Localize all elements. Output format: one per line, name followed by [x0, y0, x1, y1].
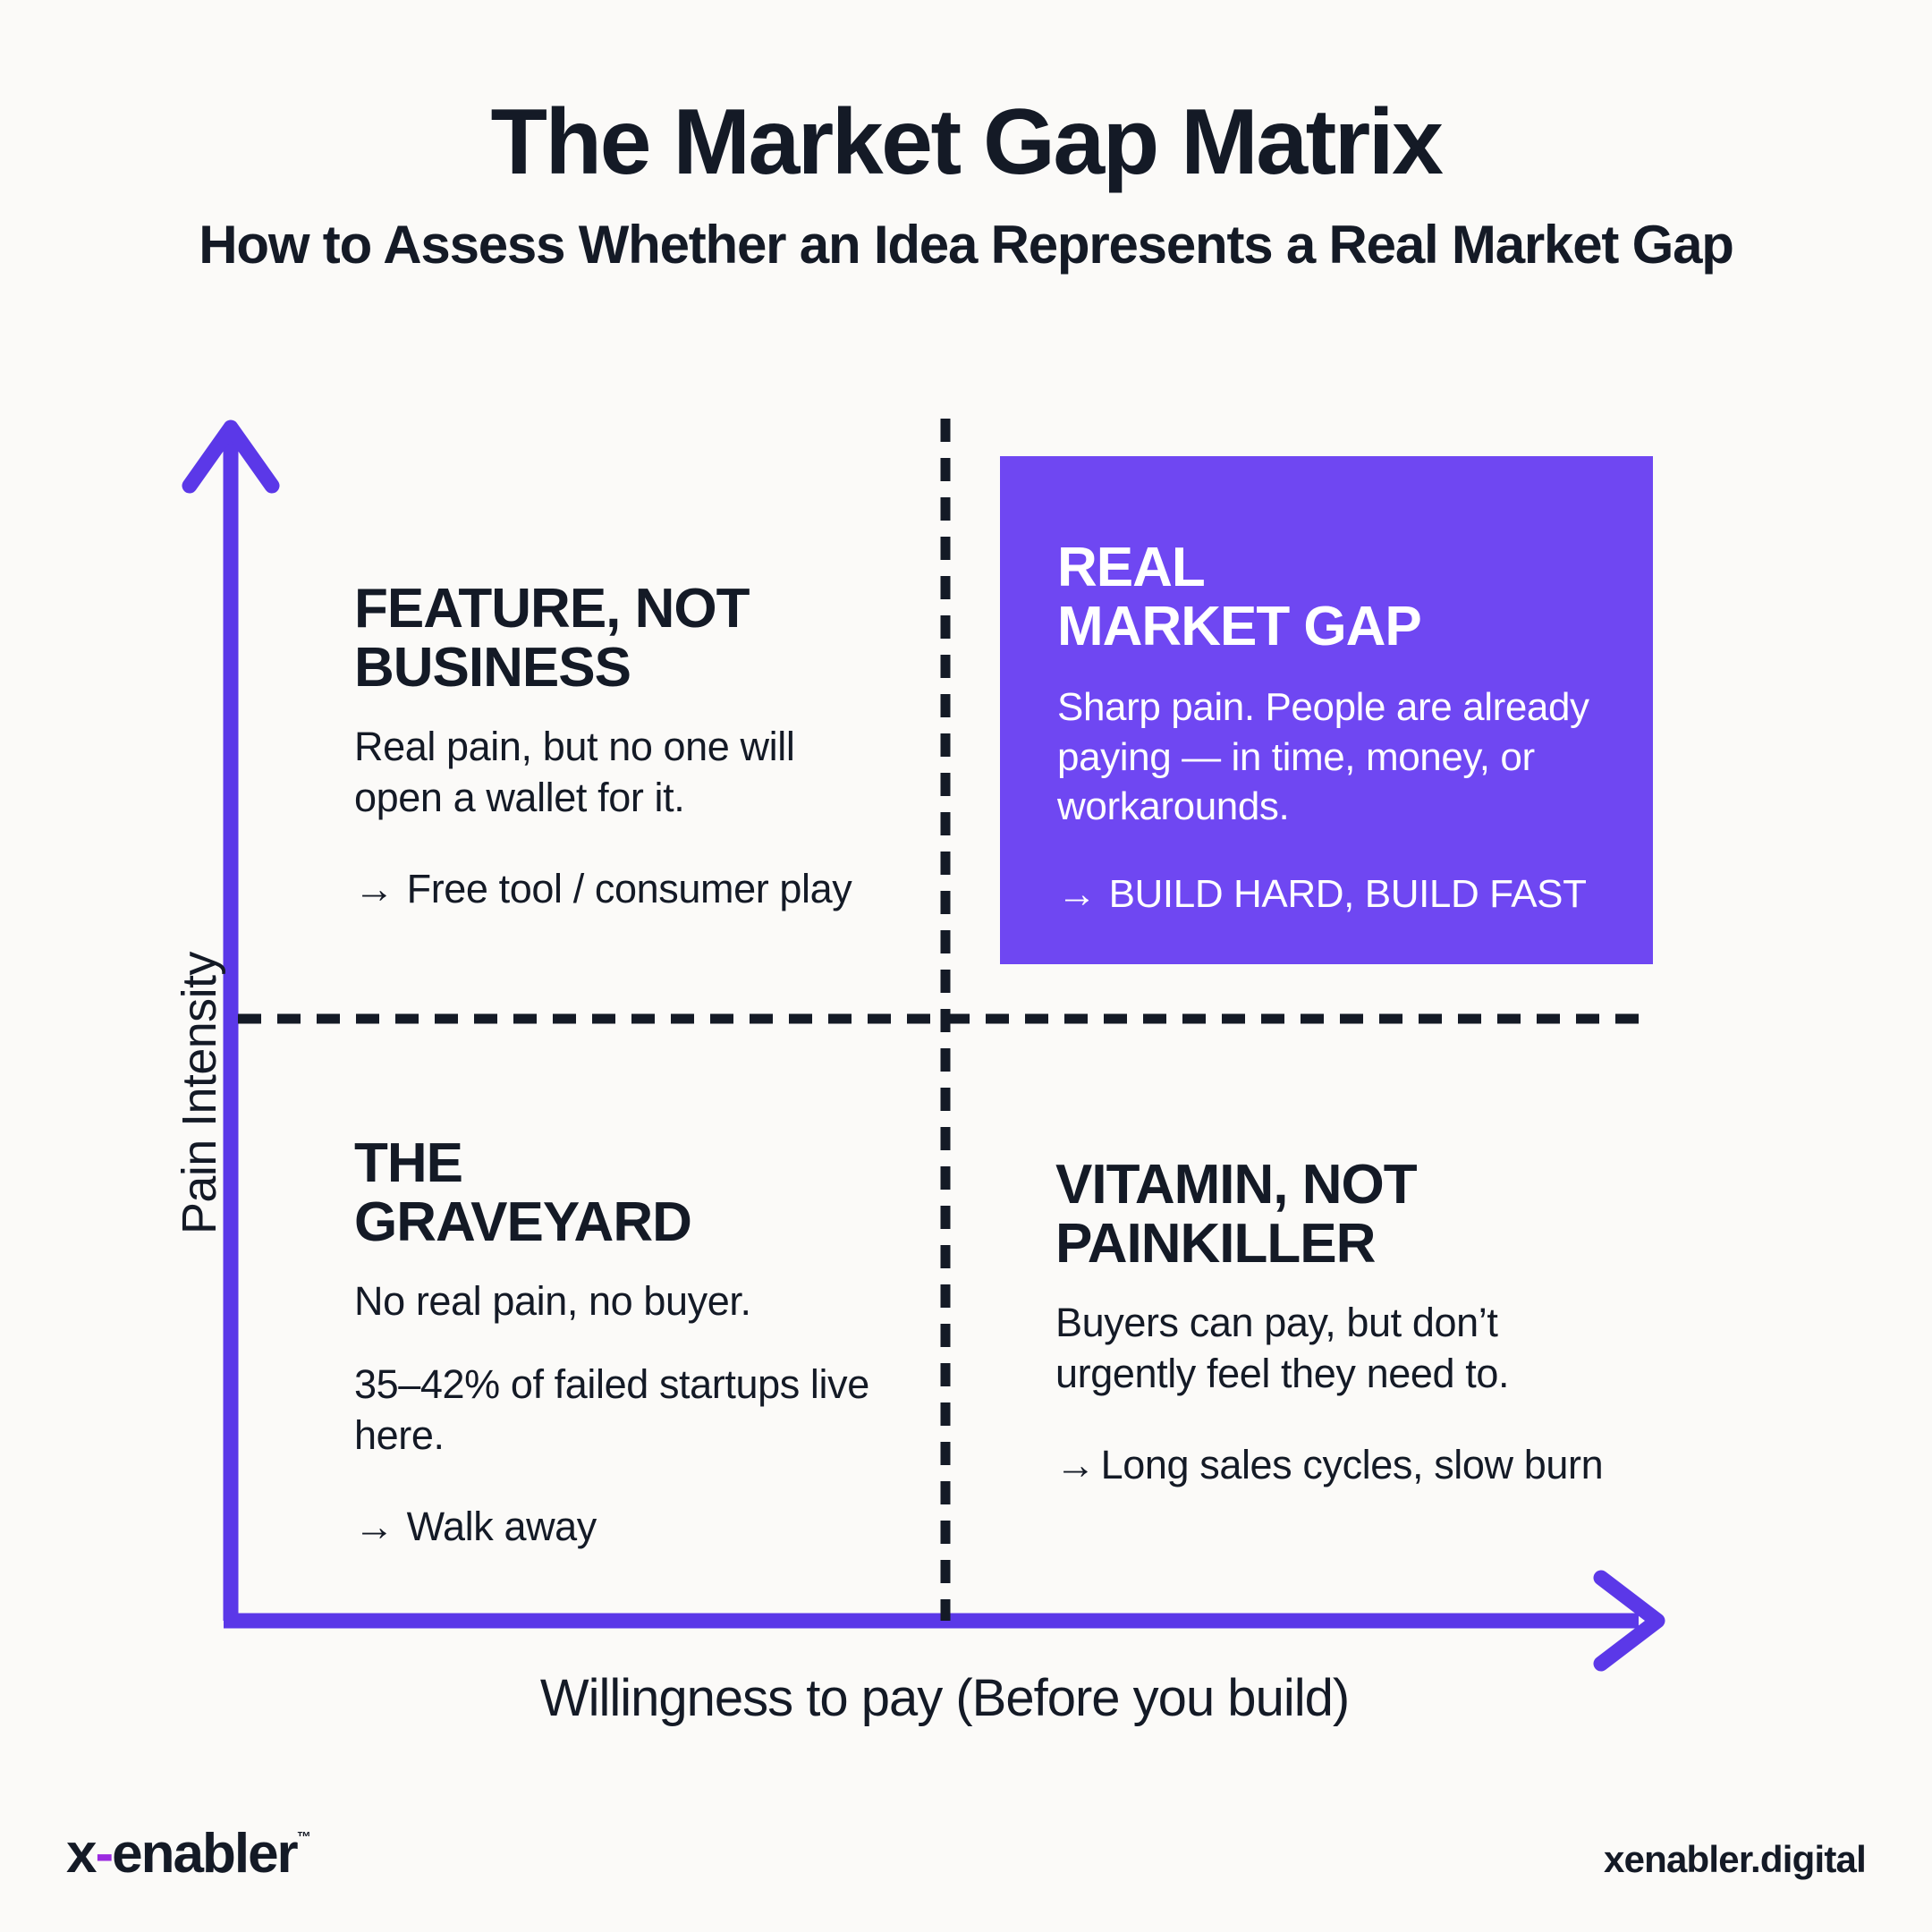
logo-suffix: enabler: [112, 1823, 297, 1885]
y-axis-label: Pain Intensity: [175, 698, 283, 1234]
arrow-right-icon: →: [354, 1504, 394, 1549]
arrow-right-icon: →: [1057, 872, 1097, 916]
x-axis-label: Willingness to pay (Before you build): [229, 1668, 1660, 1728]
quadrant-action-label: Walk away: [407, 1504, 597, 1549]
brand-logo: x-enabler™: [66, 1826, 311, 1882]
quadrant-description: Sharp pain. People are already paying — …: [1057, 682, 1599, 831]
quadrant-title: VITAMIN, NOT PAINKILLER: [1055, 1156, 1628, 1273]
quadrant-title: FEATURE, NOT BUSINESS: [354, 580, 891, 697]
quadrant-action: →Free tool / consumer play: [354, 865, 891, 913]
x-axis-arrowhead: [1601, 1578, 1657, 1664]
quadrant-description: Buyers can pay, but don’t urgently feel …: [1055, 1298, 1628, 1399]
quadrant-action-label: Long sales cycles, slow burn: [1101, 1442, 1604, 1487]
quadrant-action-label: BUILD HARD, BUILD FAST: [1109, 872, 1587, 916]
quadrant-description: No real pain, no buyer.: [354, 1276, 909, 1327]
arrow-right-icon: →: [354, 866, 394, 911]
quadrant-vitamin-not-painkiller: VITAMIN, NOT PAINKILLER Buyers can pay, …: [1055, 1156, 1628, 1489]
quadrant-feature-not-business: FEATURE, NOT BUSINESS Real pain, but no …: [354, 580, 891, 913]
y-axis-arrowhead: [190, 428, 272, 486]
quadrant-action: →Long sales cycles, slow burn: [1055, 1441, 1628, 1489]
quadrant-action: →BUILD HARD, BUILD FAST: [1057, 871, 1599, 919]
logo-dash: -: [95, 1823, 112, 1885]
quadrant-description: Real pain, but no one will open a wallet…: [354, 722, 891, 823]
logo-prefix: x: [66, 1823, 95, 1885]
quadrant-the-graveyard: THE GRAVEYARD No real pain, no buyer. 35…: [354, 1134, 909, 1551]
header: The Market Gap Matrix How to Assess Whet…: [0, 0, 1932, 275]
quadrant-title: THE GRAVEYARD: [354, 1134, 909, 1251]
quadrant-statistic: 35–42% of failed startups live here.: [354, 1360, 909, 1461]
quadrant-real-market-gap: REAL MARKET GAP Sharp pain. People are a…: [1000, 456, 1653, 964]
infographic-canvas: The Market Gap Matrix How to Assess Whet…: [0, 0, 1932, 1932]
trademark-icon: ™: [297, 1830, 311, 1845]
arrow-right-icon: →: [1055, 1442, 1096, 1487]
quadrant-action: →Walk away: [354, 1503, 909, 1551]
footer-url: xenabler.digital: [1604, 1841, 1866, 1878]
quadrant-action-label: Free tool / consumer play: [407, 866, 852, 911]
quadrant-title: REAL MARKET GAP: [1057, 538, 1599, 656]
page-title: The Market Gap Matrix: [0, 93, 1932, 191]
page-subtitle: How to Assess Whether an Idea Represents…: [0, 215, 1932, 275]
axes-and-dividers: [0, 0, 1932, 1932]
